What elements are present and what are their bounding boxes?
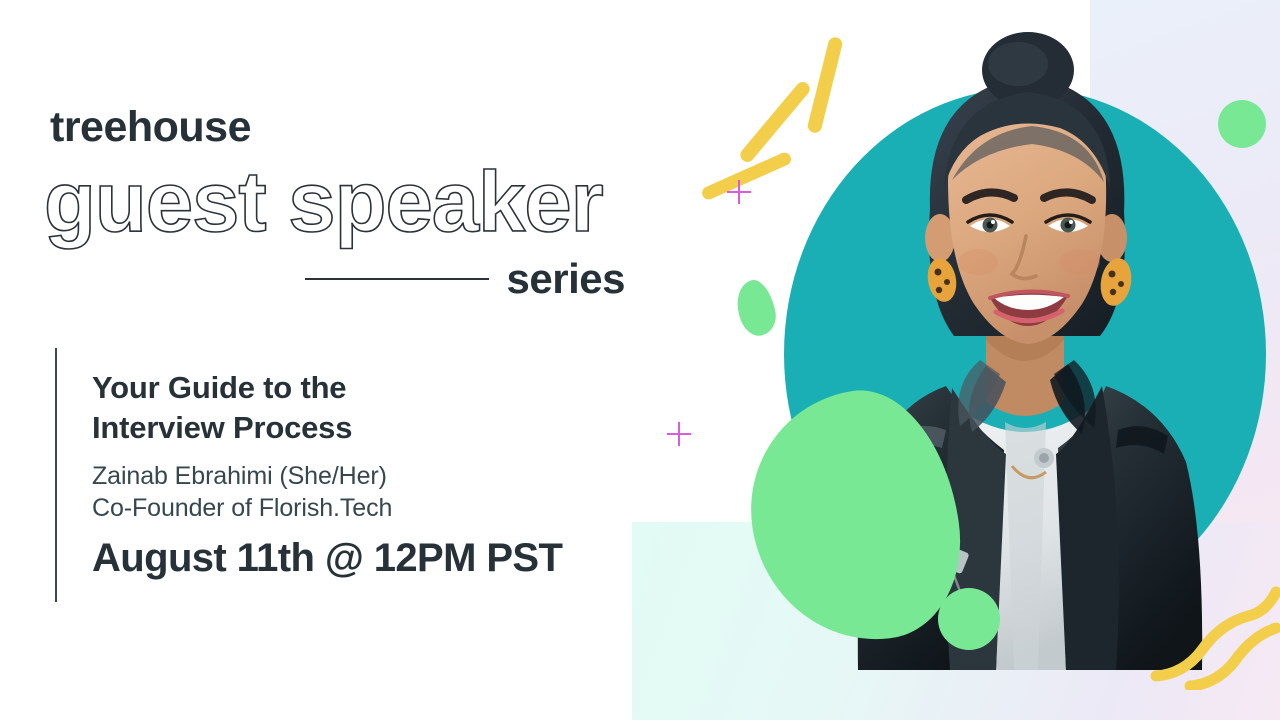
- magenta-plus-lower: [667, 422, 691, 446]
- guest-speaker-headline: guest speaker: [44, 160, 603, 245]
- guest-speaker-promo-graphic: treehouse guest speaker series Your Guid…: [0, 0, 1280, 720]
- talk-title-line-1: Your Guide to the: [92, 368, 352, 408]
- speaker-role: Co-Founder of Florish.Tech: [92, 492, 392, 526]
- series-row: series: [305, 258, 625, 300]
- details-vertical-rule: [55, 348, 57, 602]
- yellow-wave-lines: [1150, 570, 1280, 690]
- event-datetime: August 11th @ 12PM PST: [92, 536, 562, 580]
- speaker-name: Zainab Ebrahimi (She/Her): [92, 460, 387, 494]
- series-divider-rule: [305, 278, 489, 280]
- talk-title: Your Guide to the Interview Process: [92, 368, 352, 447]
- green-dot-bottom: [938, 588, 1000, 650]
- talk-title-line-2: Interview Process: [92, 408, 352, 448]
- treehouse-wordmark: treehouse: [50, 106, 251, 149]
- green-blob-small: [732, 276, 780, 339]
- series-label: series: [507, 258, 625, 300]
- magenta-plus-upper: [727, 180, 751, 204]
